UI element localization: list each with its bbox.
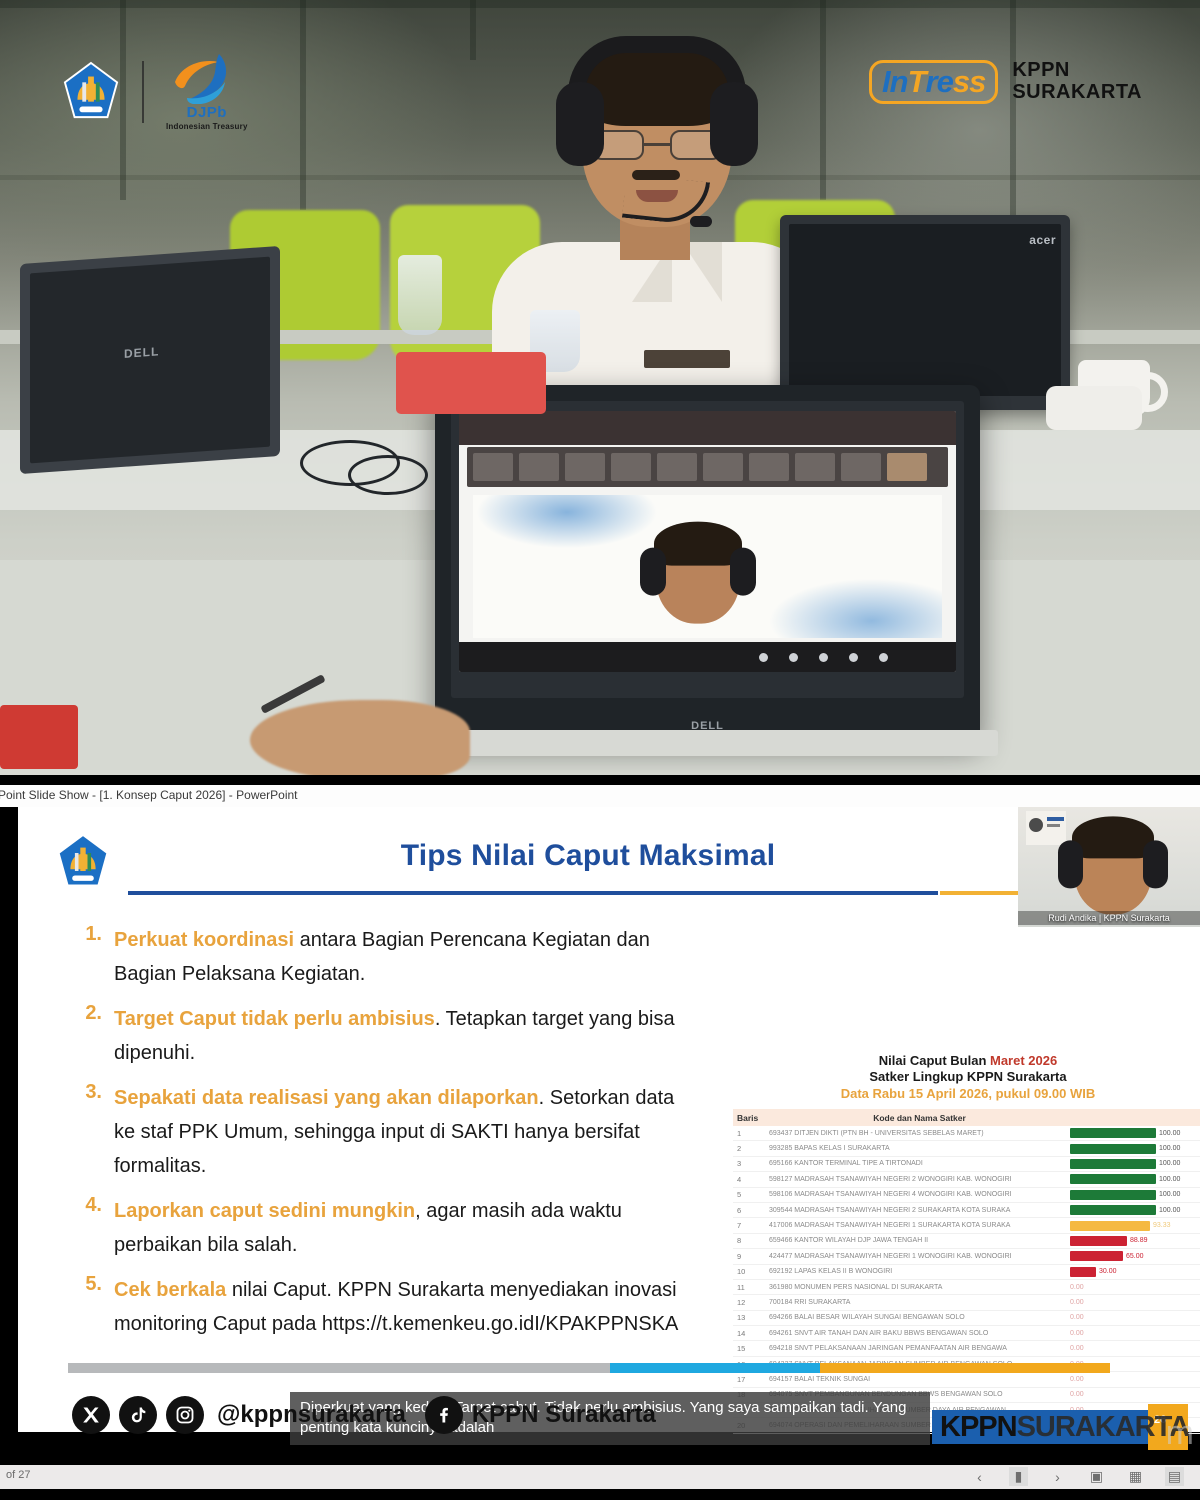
zoom-meeting-window	[459, 411, 956, 672]
value-bar	[1070, 1174, 1156, 1184]
cell-satker: 694157 BALAI TEKNIK SUNGAI	[769, 1376, 1070, 1383]
cell-value: 0.00	[1070, 1326, 1200, 1340]
header-logos-left: DJPb Indonesian Treasury	[62, 52, 248, 131]
presenter-name-label: Rudi Andika | KPPN Surakarta	[1018, 911, 1200, 925]
cell-value: 0.00	[1070, 1295, 1200, 1309]
chart-subtitle: Satker Lingkup KPPN Surakarta	[723, 1069, 1200, 1084]
cell-value: 88.89	[1070, 1234, 1200, 1248]
name-badge	[644, 350, 730, 368]
cell-baris: 1	[733, 1129, 769, 1138]
zoom-titlebar	[459, 411, 956, 445]
table-row: 7417006 MADRASAH TSANAWIYAH NEGERI 1 SUR…	[733, 1218, 1200, 1233]
table-row: 10692192 LAPAS KELAS II B WONOGIRI30.00	[733, 1265, 1200, 1280]
cell-value: 65.00	[1070, 1249, 1200, 1263]
zoom-speaker-video	[638, 520, 758, 638]
value-label: 65.00	[1126, 1253, 1144, 1260]
cell-baris: 6	[733, 1206, 769, 1215]
cell-satker: 694261 SNVT AIR TANAH DAN AIR BAKU BBWS …	[769, 1330, 1070, 1337]
laptop-brand-label: acer	[1029, 233, 1056, 247]
list-item: 1. Perkuat koordinasi antara Bagian Pere…	[80, 923, 700, 992]
kppn-watermark: 26 KPPNSURAKARTA m	[932, 1400, 1192, 1462]
drinking-glass	[398, 255, 442, 335]
slide-view-icon[interactable]: ▣	[1087, 1467, 1106, 1486]
table-row: 2993285 BAPAS KELAS I SURAKARTA100.00	[733, 1141, 1200, 1156]
value-label: 100.00	[1159, 1130, 1180, 1137]
cell-baris: 4	[733, 1175, 769, 1184]
value-label: 0.00	[1070, 1330, 1084, 1337]
powerpoint-titlebar: rPoint Slide Show - [1. Konsep Caput 202…	[0, 785, 1200, 807]
presenter-video	[1058, 816, 1168, 924]
cell-value: 0.00	[1070, 1280, 1200, 1294]
cell-satker: 993285 BAPAS KELAS I SURAKARTA	[769, 1145, 1070, 1152]
watermark-ghost: m	[1166, 1414, 1194, 1453]
laptop-screen	[30, 257, 270, 464]
red-box-prop	[0, 705, 78, 769]
cell-satker: 694266 BALAI BESAR WILAYAH SUNGAI BENGAW…	[769, 1314, 1070, 1321]
value-label: 0.00	[1070, 1391, 1084, 1398]
all-slides-grid-icon[interactable]: ▦	[1126, 1467, 1145, 1486]
next-slide-icon[interactable]: ›	[1048, 1467, 1067, 1486]
value-label: 100.00	[1159, 1176, 1180, 1183]
bullet-number: 5.	[80, 1273, 102, 1342]
cell-satker: 424477 MADRASAH TSANAWIYAH NEGERI 1 WONO…	[769, 1253, 1070, 1260]
bullet-highlight: Perkuat koordinasi	[114, 929, 294, 951]
zoom-toolbar[interactable]	[459, 642, 956, 672]
value-label: 100.00	[1159, 1191, 1180, 1198]
value-label: 0.00	[1070, 1299, 1084, 1306]
intress-part-in: In	[882, 66, 908, 97]
value-bar	[1070, 1205, 1156, 1215]
list-item: 5. Cek berkala nilai Caput. KPPN Surakar…	[80, 1273, 700, 1342]
kppn-line2: SURAKARTA	[1012, 82, 1142, 104]
chart-title: Nilai Caput Bulan Maret 2026	[723, 1053, 1200, 1068]
watermark-part1: KPPN	[940, 1411, 1017, 1443]
pen-tool-icon[interactable]: ▮	[1009, 1467, 1028, 1486]
laptop-bezel	[451, 401, 964, 698]
cell-baris: 5	[733, 1190, 769, 1199]
meeting-room-photo: acer DELL	[0, 0, 1200, 775]
cell-value: 100.00	[1070, 1188, 1200, 1202]
table-row: 11361980 MONUMEN PERS NASIONAL DI SURAKA…	[733, 1280, 1200, 1295]
watermark-part2: SURAKARTA	[1017, 1411, 1190, 1443]
value-label: 93.33	[1153, 1222, 1171, 1229]
cell-baris: 15	[733, 1344, 769, 1353]
headphone-earcup-right	[710, 82, 758, 166]
list-item: 3. Sepakati data realisasi yang akan dil…	[80, 1081, 700, 1184]
window-mullion-3	[470, 0, 476, 60]
laptop-right: acer	[780, 215, 1070, 410]
value-label: 0.00	[1070, 1284, 1084, 1291]
laptop-screen	[789, 224, 1061, 396]
prev-slide-icon[interactable]: ‹	[970, 1467, 989, 1486]
table-row: 3695166 KANTOR TERMINAL TIPE A TIRTONADI…	[733, 1157, 1200, 1172]
table-row: 12700184 RRI SURAKARTA0.00	[733, 1295, 1200, 1310]
col-header-baris: Baris	[733, 1113, 769, 1123]
table-row: 9424477 MADRASAH TSANAWIYAH NEGERI 1 WON…	[733, 1249, 1200, 1264]
value-bar	[1070, 1267, 1096, 1277]
value-bar	[1070, 1159, 1156, 1169]
cell-baris: 17	[733, 1375, 769, 1384]
value-label: 30.00	[1099, 1268, 1117, 1275]
value-label: 100.00	[1159, 1160, 1180, 1167]
cell-satker: 692192 LAPAS KELAS II B WONOGIRI	[769, 1268, 1070, 1275]
facebook-icon[interactable]	[425, 1396, 463, 1434]
list-item: 2. Target Caput tidak perlu ambisius. Te…	[80, 1002, 700, 1071]
value-label: 100.00	[1159, 1207, 1180, 1214]
footer-strip-gold	[820, 1363, 1110, 1373]
cell-satker: 598106 MADRASAH TSANAWIYAH NEGERI 4 WONO…	[769, 1191, 1070, 1198]
value-label: 0.00	[1070, 1376, 1084, 1383]
screenshot-root: acer DELL	[0, 0, 1200, 1500]
powerpoint-statusbar: of 27 ‹ ▮ › ▣ ▦ ▤	[0, 1465, 1200, 1489]
table-row: 13694266 BALAI BESAR WILAYAH SUNGAI BENG…	[733, 1311, 1200, 1326]
cell-value: 100.00	[1070, 1172, 1200, 1186]
cell-value: 100.00	[1070, 1141, 1200, 1155]
microphone-tip	[690, 216, 712, 227]
djpb-swoosh-icon	[171, 52, 243, 104]
cell-satker: 695166 KANTOR TERMINAL TIPE A TIRTONADI	[769, 1160, 1070, 1167]
cell-baris: 14	[733, 1329, 769, 1338]
table-row: 1693437 DITJEN DIKTI (PTN BH - UNIVERSIT…	[733, 1126, 1200, 1141]
value-label: 88.89	[1130, 1237, 1148, 1244]
value-label: 100.00	[1159, 1145, 1180, 1152]
bullet-number: 4.	[80, 1194, 102, 1263]
tiktok-icon[interactable]	[119, 1396, 157, 1434]
intress-part-ss: ss	[953, 66, 985, 97]
cell-value: 0.00	[1070, 1372, 1200, 1386]
col-header-satker: Kode dan Nama Satker	[769, 1113, 1070, 1123]
slide-title: Tips Nilai Caput Maksimal	[138, 839, 1038, 873]
table-row: 15694218 SNVT PELAKSANAAN JARINGAN PEMAN…	[733, 1341, 1200, 1356]
bullet-highlight: Target Caput tidak perlu ambisius	[114, 1008, 435, 1030]
value-bar	[1070, 1144, 1156, 1154]
value-bar	[1070, 1128, 1156, 1138]
chart-table: Baris Kode dan Nama Satker 1693437 DITJE…	[733, 1109, 1200, 1421]
cell-value: 30.00	[1070, 1265, 1200, 1279]
bullet-number: 2.	[80, 1002, 102, 1071]
cell-baris: 3	[733, 1159, 769, 1168]
intress-logo: In T re ss	[869, 60, 998, 104]
x-twitter-icon[interactable]	[72, 1396, 110, 1434]
kemenkeu-logo-icon	[62, 61, 120, 123]
cell-satker: 693437 DITJEN DIKTI (PTN BH - UNIVERSITA…	[769, 1130, 1070, 1137]
value-label: 0.00	[1070, 1314, 1084, 1321]
window-frame-top	[0, 0, 1200, 8]
tissue-box	[1046, 386, 1142, 430]
cell-baris: 12	[733, 1298, 769, 1307]
value-label: 0.00	[1070, 1345, 1084, 1352]
table-row: 5598106 MADRASAH TSANAWIYAH NEGERI 4 WON…	[733, 1188, 1200, 1203]
window-mullion-5	[1010, 0, 1016, 215]
cell-baris: 11	[733, 1283, 769, 1292]
slide-page-indicator: of 27	[6, 1469, 30, 1481]
cell-satker: 309544 MADRASAH TSANAWIYAH NEGERI 2 SURA…	[769, 1207, 1070, 1214]
cell-value: 100.00	[1070, 1203, 1200, 1217]
header-logos-right: In T re ss KPPN SURAKARTA	[869, 60, 1142, 104]
value-bar	[1070, 1190, 1156, 1200]
social-handle: @kppnsurakarta	[217, 1401, 406, 1429]
laptop-left: DELL	[20, 246, 280, 474]
intress-part-t: T	[908, 66, 926, 97]
djpb-subtitle: Indonesian Treasury	[166, 122, 248, 131]
djpb-name: DJPb	[166, 105, 248, 120]
cell-baris: 2	[733, 1144, 769, 1153]
value-bar	[1070, 1251, 1123, 1261]
laptop-brand-label: DELL	[124, 344, 159, 360]
bullet-highlight: Sepakati data realisasi yang akan dilapo…	[114, 1087, 539, 1109]
slideshow-nav-controls: ‹ ▮ › ▣ ▦ ▤	[970, 1467, 1184, 1486]
table-row: 8659466 KANTOR WILAYAH DJP JAWA TENGAH I…	[733, 1234, 1200, 1249]
bullet-highlight: Laporkan caput sedini mungkin	[114, 1200, 415, 1222]
red-box-prop	[396, 352, 546, 414]
zoom-main-video	[473, 495, 942, 638]
cell-satker: 417006 MADRASAH TSANAWIYAH NEGERI 1 SURA…	[769, 1222, 1070, 1229]
window-mullion-4	[820, 0, 826, 200]
cell-value: 0.00	[1070, 1311, 1200, 1325]
chart-subtitle2: Data Rabu 15 April 2026, pukul 09.00 WIB	[723, 1086, 1200, 1101]
presenter-thumbnail[interactable]: Rudi Andika | KPPN Surakarta	[1018, 807, 1200, 927]
value-bar	[1070, 1221, 1150, 1231]
laptop-brand-label: DELL	[691, 720, 724, 732]
list-item: 4. Laporkan caput sedini mungkin, agar m…	[80, 1194, 700, 1263]
bullet-highlight: Cek berkala	[114, 1279, 226, 1301]
instagram-icon[interactable]	[166, 1396, 204, 1434]
cell-satker: 361980 MONUMEN PERS NASIONAL DI SURAKART…	[769, 1284, 1070, 1291]
cell-baris: 8	[733, 1236, 769, 1245]
eyeglasses	[592, 130, 722, 160]
headphone-earcup-left	[556, 82, 604, 166]
cell-baris: 9	[733, 1252, 769, 1261]
intress-part-re: re	[926, 66, 953, 97]
table-body: 1693437 DITJEN DIKTI (PTN BH - UNIVERSIT…	[733, 1126, 1200, 1434]
cell-value: 100.00	[1070, 1126, 1200, 1140]
laptop-base	[417, 730, 998, 756]
table-row: 4598127 MADRASAH TSANAWIYAH NEGERI 2 WON…	[733, 1172, 1200, 1187]
cell-satker: 598127 MADRASAH TSANAWIYAH NEGERI 2 WONO…	[769, 1176, 1070, 1183]
kppn-surakarta-label: KPPN SURAKARTA	[1012, 60, 1142, 103]
cable	[348, 455, 428, 495]
zoom-slide-icon[interactable]: ▤	[1165, 1467, 1184, 1486]
logo-divider	[142, 61, 144, 123]
table-row: 6309544 MADRASAH TSANAWIYAH NEGERI 2 SUR…	[733, 1203, 1200, 1218]
cell-baris: 7	[733, 1221, 769, 1230]
footer-strip-blue	[610, 1363, 820, 1373]
slide-bullet-list: 1. Perkuat koordinasi antara Bagian Pere…	[80, 923, 700, 1351]
powerpoint-title-text: rPoint Slide Show - [1. Konsep Caput 202…	[0, 788, 298, 802]
kppn-line1: KPPN	[1012, 60, 1142, 82]
cell-value: 93.33	[1070, 1218, 1200, 1232]
social-media-bar: @kppnsurakarta KPPN Surakarta	[72, 1396, 656, 1434]
zoom-participant-strip	[467, 447, 948, 487]
table-row: 14694261 SNVT AIR TANAH DAN AIR BAKU BBW…	[733, 1326, 1200, 1341]
facebook-page-name: KPPN Surakarta	[472, 1401, 656, 1429]
cell-value: 0.00	[1070, 1341, 1200, 1355]
powerpoint-slide[interactable]: Tips Nilai Caput Maksimal 1. Perkuat koo…	[18, 807, 1200, 1432]
table-row: 17694157 BALAI TEKNIK SUNGAI0.00	[733, 1372, 1200, 1387]
cell-baris: 13	[733, 1313, 769, 1322]
cell-baris: 10	[733, 1267, 769, 1276]
cell-satker: 700184 RRI SURAKARTA	[769, 1299, 1070, 1306]
djpb-logo: DJPb Indonesian Treasury	[166, 52, 248, 131]
table-header-row: Baris Kode dan Nama Satker	[733, 1109, 1200, 1126]
title-rule	[128, 891, 938, 895]
cell-satker: 694218 SNVT PELAKSANAAN JARINGAN PEMANFA…	[769, 1345, 1070, 1352]
bullet-number: 1.	[80, 923, 102, 992]
value-bar	[1070, 1236, 1127, 1246]
laptop-foreground: DELL	[435, 385, 980, 740]
bullet-number: 3.	[80, 1081, 102, 1184]
hand	[250, 700, 470, 775]
cell-satker: 659466 KANTOR WILAYAH DJP JAWA TENGAH II	[769, 1237, 1070, 1244]
kemenkeu-logo-icon	[56, 833, 110, 891]
chart-title-month: Maret 2026	[990, 1053, 1057, 1068]
chart-header: Nilai Caput Bulan Maret 2026 Satker Ling…	[723, 1047, 1200, 1101]
cell-value: 100.00	[1070, 1157, 1200, 1171]
